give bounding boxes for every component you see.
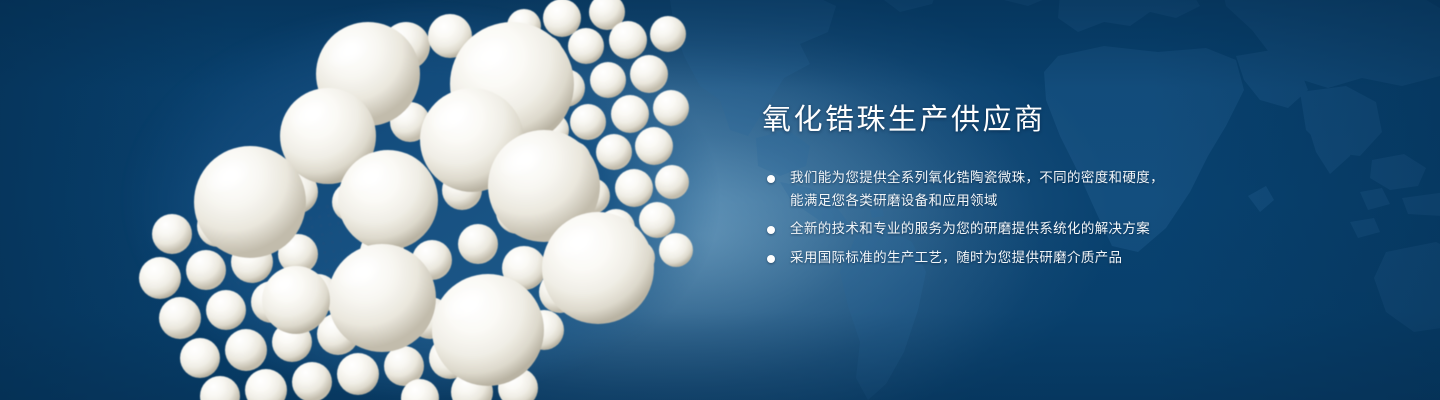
bullet-line: 能满足您各类研磨设备和应用领域 [790,190,1282,213]
bullet-line: 全新的技术和专业的服务为您的研磨提供系统化的解决方案 [790,218,1282,241]
bullet-dot-icon [767,175,775,183]
feature-bullet-list: 我们能为您提供全系列氧化锆陶瓷微珠，不同的密度和硬度， 能满足您各类研磨设备和应… [762,167,1282,269]
bullet-dot-icon [767,226,775,234]
bullet-line: 采用国际标准的生产工艺，随时为您提供研磨介质产品 [790,247,1282,270]
list-item: 采用国际标准的生产工艺，随时为您提供研磨介质产品 [762,247,1282,270]
hero-banner: 氧化锆珠生产供应商 我们能为您提供全系列氧化锆陶瓷微珠，不同的密度和硬度， 能满… [0,0,1440,400]
banner-copy: 氧化锆珠生产供应商 我们能为您提供全系列氧化锆陶瓷微珠，不同的密度和硬度， 能满… [762,104,1282,269]
list-item: 全新的技术和专业的服务为您的研磨提供系统化的解决方案 [762,218,1282,241]
zirconia-beads-photo [120,0,720,400]
bullet-line: 我们能为您提供全系列氧化锆陶瓷微珠，不同的密度和硬度， [790,167,1282,190]
banner-headline: 氧化锆珠生产供应商 [762,104,1282,137]
list-item: 我们能为您提供全系列氧化锆陶瓷微珠，不同的密度和硬度， 能满足您各类研磨设备和应… [762,167,1282,212]
bullet-dot-icon [767,255,775,263]
